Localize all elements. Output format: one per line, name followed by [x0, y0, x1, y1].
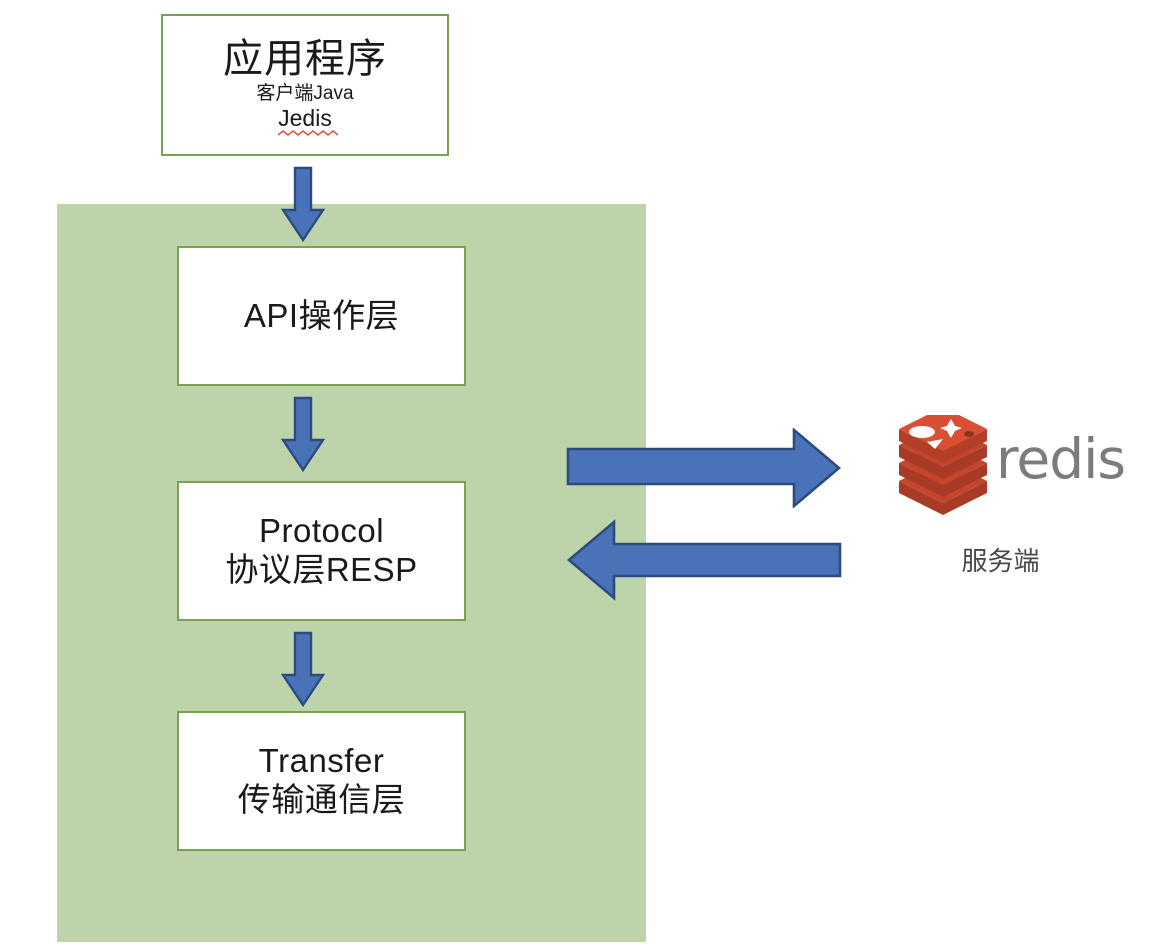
application-subtitle-jedis: Jedis: [278, 105, 332, 134]
protocol-layer-line2: 协议层RESP: [225, 551, 417, 590]
arrow-down-icon-protocol-to-transfer: [281, 631, 325, 709]
redis-stack-logo-icon: [893, 415, 993, 515]
arrow-down-icon-api-to-protocol: [281, 396, 325, 474]
application-jedis-text: Jedis: [278, 105, 332, 131]
node-box-transfer-layer[interactable]: Transfer 传输通信层: [177, 711, 466, 851]
application-subtitle-client: 客户端Java: [256, 83, 353, 105]
application-title: 应用程序: [223, 36, 387, 83]
spellcheck-squiggle-icon: [278, 130, 338, 136]
api-layer-title: API操作层: [244, 297, 399, 336]
protocol-layer-line1: Protocol: [259, 512, 384, 551]
server-label: 服务端: [893, 541, 1108, 578]
transfer-layer-line1: Transfer: [259, 742, 385, 781]
node-box-application[interactable]: 应用程序 客户端Java Jedis: [161, 14, 449, 156]
redis-server-group: redis 服务端: [893, 415, 1143, 590]
redis-wordmark: redis: [996, 432, 1125, 487]
diagram-canvas: 应用程序 客户端Java Jedis API操作层 Protocol 协议层RE…: [0, 0, 1156, 946]
arrow-down-icon-app-to-api: [281, 166, 325, 244]
node-box-protocol-layer[interactable]: Protocol 协议层RESP: [177, 481, 466, 621]
arrow-right-icon-client-to-server: [566, 428, 842, 508]
node-box-api-layer[interactable]: API操作层: [177, 246, 466, 386]
arrow-left-icon-server-to-client: [566, 519, 842, 601]
transfer-layer-line2: 传输通信层: [238, 781, 406, 820]
